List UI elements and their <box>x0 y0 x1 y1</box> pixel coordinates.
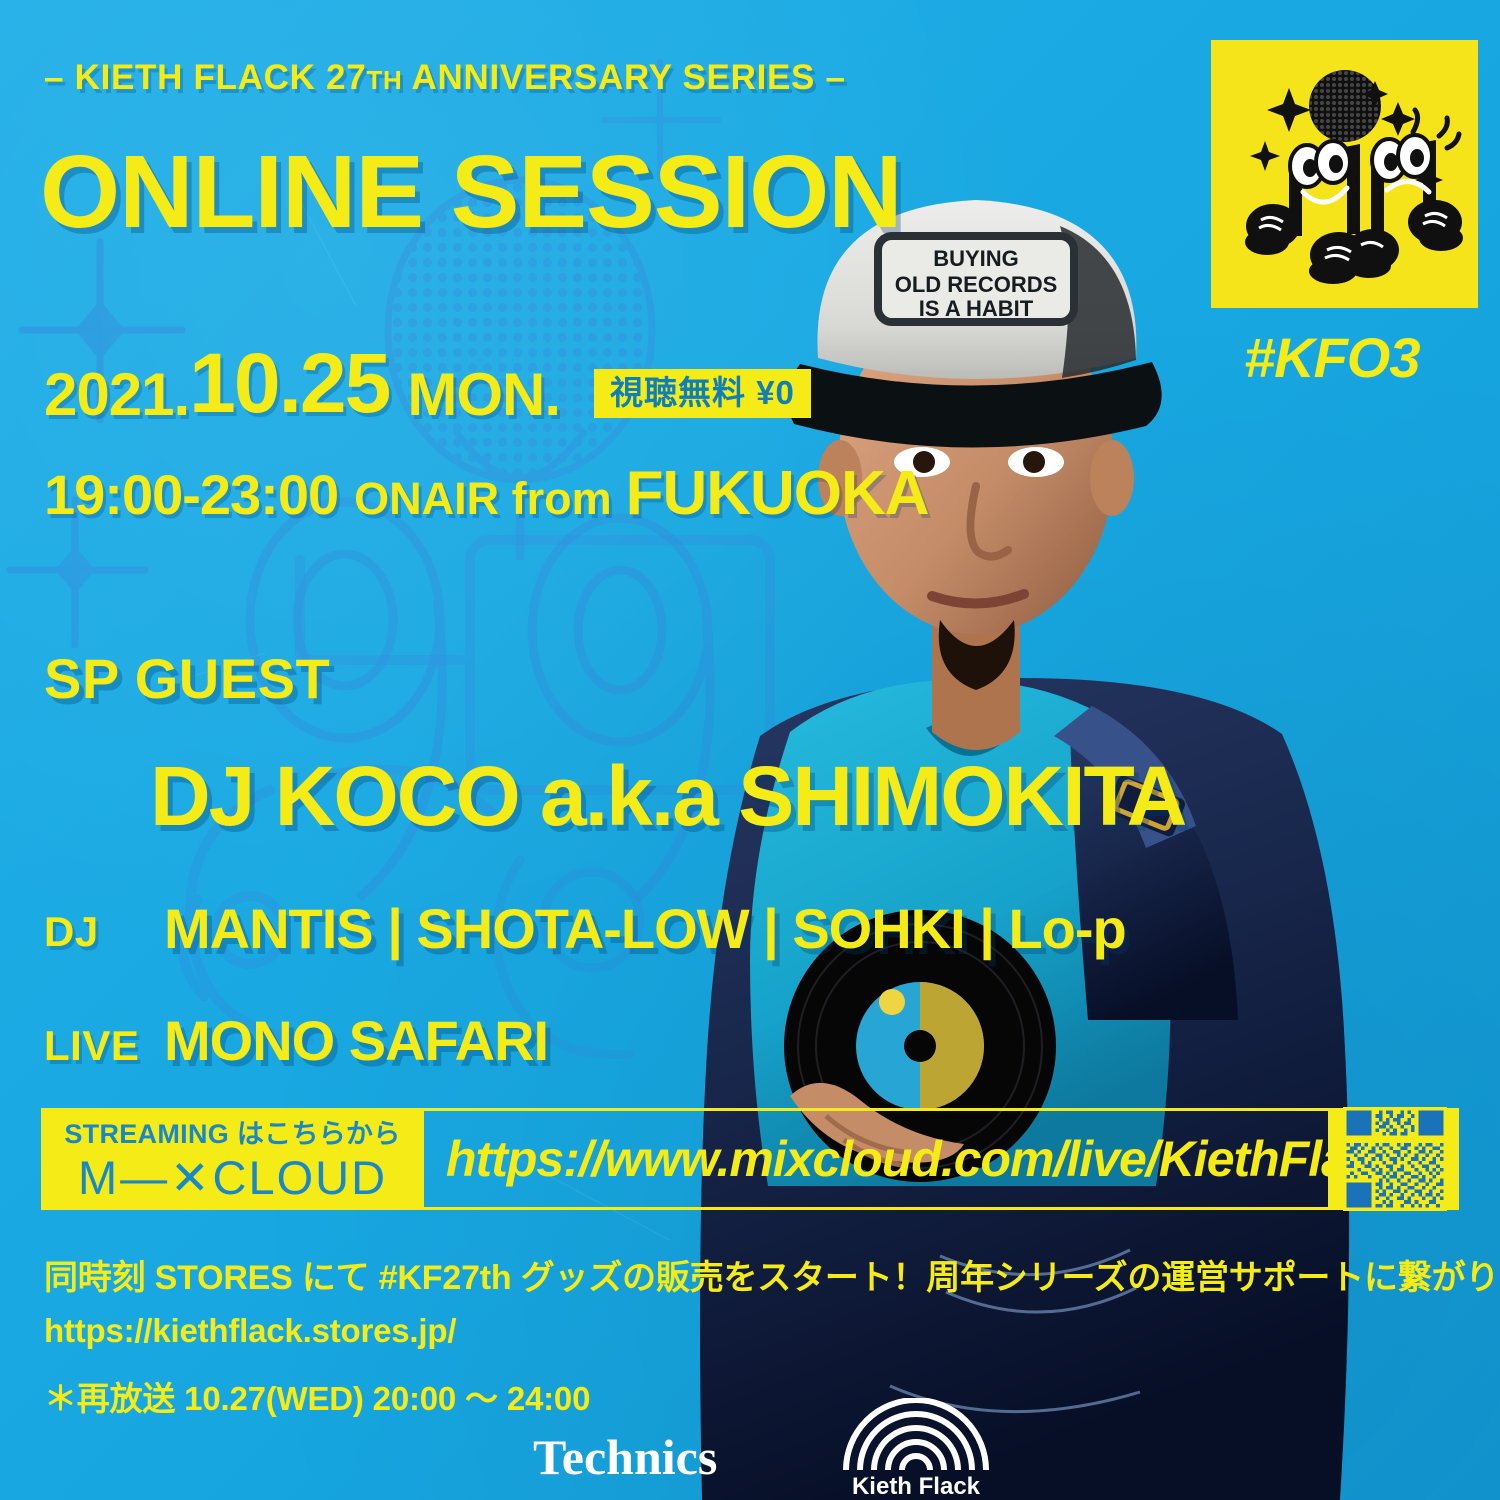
dj-label: DJ <box>44 908 99 956</box>
mixcloud-logo-m: M <box>78 1154 119 1201</box>
date-line: 2021. 10.25 MON. 視聴無料 ¥0 <box>44 350 811 424</box>
kieth-flack-logo: Kieth Flack <box>838 1398 994 1500</box>
streaming-label: STREAMING はこちらから <box>64 1121 400 1148</box>
date-day: 10.25 <box>189 343 389 424</box>
event-flyer: BUYING OLD RECORDS IS A HABIT <box>0 0 1500 1500</box>
footer-rebroadcast-note: ＊再放送 10.27(WED) 20:00 〜 24:00 <box>44 1372 590 1420</box>
event-time: 19:00-23:00 <box>44 462 338 527</box>
anniversary-kicker: – KIETH FLACK 27TH ANNIVERSARY SERIES – <box>44 58 846 98</box>
kicker-tail: ANNIVERSARY SERIES – <box>402 58 845 97</box>
footer-store-note: 同時刻 STORES にて #KF27th グッズの販売をスタート！周年シリーズ… <box>44 1250 1500 1299</box>
free-admission-badge: 視聴無料 ¥0 <box>594 369 811 418</box>
kicker-prefix: – KIETH FLACK 27 <box>44 58 366 97</box>
kf-character-badge <box>1211 40 1478 308</box>
sp-guest-name: DJ KOCO a.k.a SHIMOKITA <box>150 748 1185 845</box>
kicker-ordinal: TH <box>366 65 402 95</box>
footer-store-url[interactable]: https://kiethflack.stores.jp/ <box>44 1312 456 1350</box>
event-city: FUKUOKA <box>626 458 929 529</box>
live-label: LIVE <box>44 1022 139 1070</box>
qr-code-block[interactable] <box>1331 1108 1459 1210</box>
kieth-flack-wordmark: Kieth Flack <box>852 1473 981 1500</box>
cap-patch-line2: OLD RECORDS <box>895 272 1058 297</box>
onair-label: ONAIR from <box>354 473 612 525</box>
sp-guest-label: SP GUEST <box>44 646 330 711</box>
dj-lineup: MANTIS | SHOTA-LOW | SOHKI | Lo-p <box>164 896 1126 961</box>
qr-code-icon <box>1343 1107 1447 1211</box>
live-lineup: MONO SAFARI <box>164 1008 548 1073</box>
streaming-bar: STREAMING はこちらから M—✕CLOUD https://www.mi… <box>41 1108 1459 1210</box>
mixcloud-logo-x: ✕ <box>170 1154 211 1201</box>
date-year: 2021. <box>44 366 189 424</box>
mixcloud-block[interactable]: STREAMING はこちらから M—✕CLOUD <box>41 1108 424 1210</box>
hashtag-label: #KFO3 <box>1244 325 1420 390</box>
stream-url-block[interactable]: https://www.mixcloud.com/live/KiethFlack… <box>424 1108 1331 1210</box>
mixcloud-logo-dash: — <box>120 1154 169 1201</box>
mixcloud-logo-rest: CLOUD <box>213 1154 388 1201</box>
mixcloud-logo: M—✕CLOUD <box>78 1154 387 1201</box>
date-weekday: MON. <box>407 366 560 424</box>
cap-patch-line3: IS A HABIT <box>919 296 1034 321</box>
time-line: 19:00-23:00 ONAIR from FUKUOKA <box>44 458 929 529</box>
kieth-flack-arcs-icon: Kieth Flack <box>838 1398 994 1500</box>
technics-logo: Technics <box>533 1428 717 1486</box>
disco-music-notes-icon <box>1211 40 1478 308</box>
cap-patch-line1: BUYING <box>933 246 1019 271</box>
page-title: ONLINE SESSION <box>40 140 902 243</box>
stream-url: https://www.mixcloud.com/live/KiethFlack… <box>446 1130 1331 1188</box>
